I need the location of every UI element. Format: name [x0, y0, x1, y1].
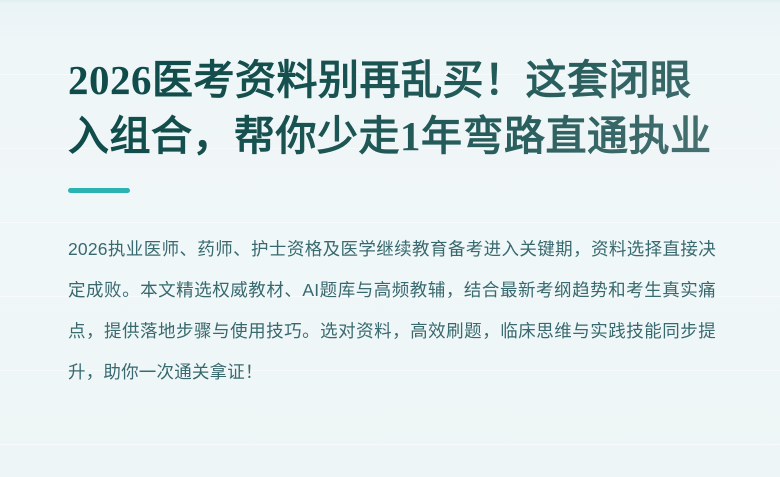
article-summary: 2026执业医师、药师、护士资格及医学继续教育备考进入关键期，资料选择直接决定成…: [68, 229, 716, 393]
article-hero-card: 2026医考资料别再乱买！这套闭眼入组合，帮你少走1年弯路直通执业 2026执业…: [0, 0, 780, 477]
hero-content: 2026医考资料别再乱买！这套闭眼入组合，帮你少走1年弯路直通执业 2026执业…: [0, 0, 780, 477]
accent-divider: [68, 188, 130, 193]
page-title: 2026医考资料别再乱买！这套闭眼入组合，帮你少走1年弯路直通执业: [68, 52, 718, 164]
